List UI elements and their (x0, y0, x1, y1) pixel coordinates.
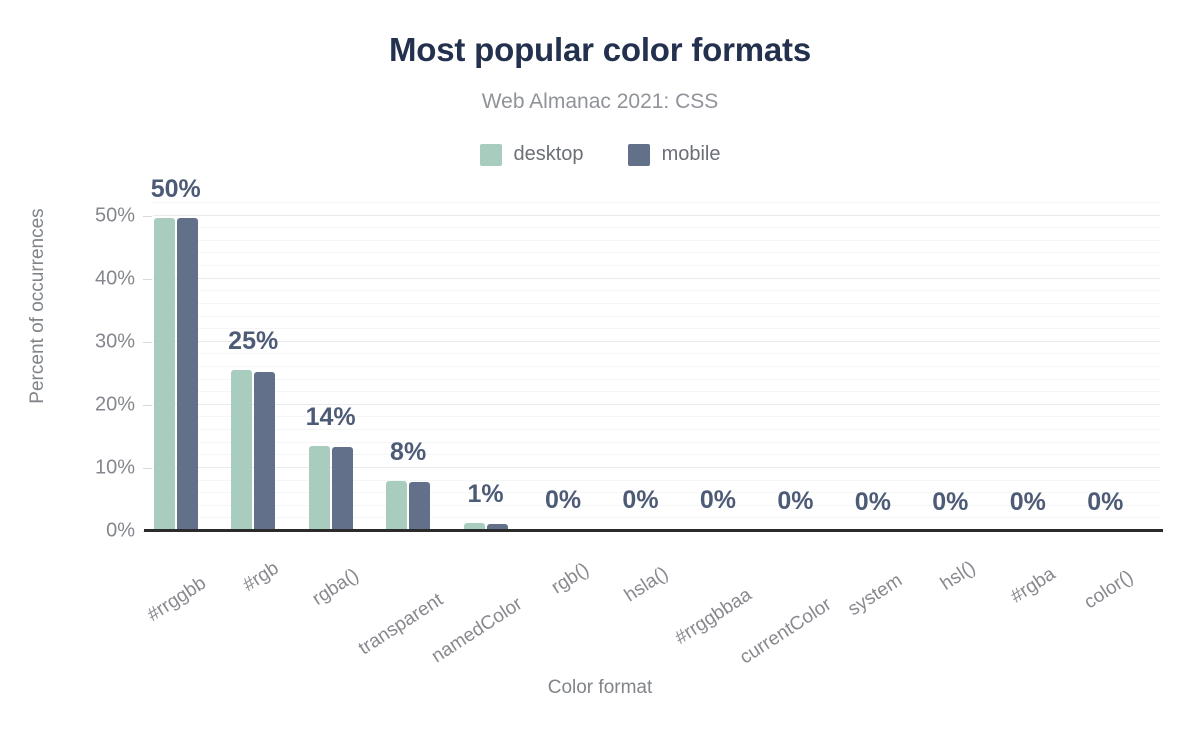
y-tick-mark (143, 216, 152, 217)
chart-title: Most popular color formats (0, 31, 1200, 69)
bar-value-label: 1% (467, 480, 503, 509)
legend-swatch-desktop (480, 144, 502, 166)
y-tick-label: 40% (45, 267, 135, 290)
legend-swatch-mobile (628, 144, 650, 166)
y-tick-mark (143, 279, 152, 280)
x-tick-label: color() (1081, 566, 1138, 614)
y-tick-label: 20% (45, 393, 135, 416)
legend-label-desktop: desktop (514, 143, 584, 166)
x-tick-label: hsl() (937, 557, 980, 596)
y-axis: 0%10%20%30%40%50% (40, 203, 135, 531)
bar-value-label: 0% (855, 488, 891, 517)
y-tick-mark (143, 405, 152, 406)
legend-item-mobile[interactable]: mobile (628, 143, 721, 166)
x-tick-label: rgba() (308, 565, 362, 611)
bar-mobile[interactable] (409, 482, 430, 531)
x-tick-label: rgb() (548, 559, 594, 599)
chart-legend: desktop mobile (0, 143, 1200, 166)
x-tick-label: #rrggbbaa (671, 584, 756, 650)
y-tick-label: 0% (45, 520, 135, 543)
x-tick-label: #rrggbb (143, 573, 210, 627)
bar-value-label: 0% (1087, 488, 1123, 517)
bar-desktop[interactable] (309, 446, 330, 531)
bar-value-label: 0% (932, 488, 968, 517)
bar-value-label: 0% (622, 486, 658, 515)
y-tick-mark (143, 342, 152, 343)
bar-value-label: 0% (1010, 488, 1046, 517)
x-axis-title: Color format (0, 677, 1200, 699)
bar-desktop[interactable] (231, 370, 252, 531)
bar-value-label: 0% (545, 486, 581, 515)
y-tick-label: 30% (45, 330, 135, 353)
y-tick-mark (143, 468, 152, 469)
x-tick-label: #rgb (239, 558, 283, 597)
bars-layer: 50%25%14%8%1%0%0%0%0%0%0%0%0% (153, 203, 1160, 531)
bar-value-label: 50% (151, 175, 201, 204)
legend-item-desktop[interactable]: desktop (480, 143, 584, 166)
bar-value-label: 25% (228, 327, 278, 356)
bar-mobile[interactable] (332, 447, 353, 531)
bar-mobile[interactable] (177, 218, 198, 531)
legend-label-mobile: mobile (662, 143, 721, 166)
bar-value-label: 0% (700, 486, 736, 515)
y-tick-label: 10% (45, 456, 135, 479)
bar-desktop[interactable] (386, 481, 407, 531)
bar-desktop[interactable] (154, 218, 175, 531)
y-tick-label: 50% (45, 204, 135, 227)
y-axis-title: Percent of occurrences (27, 196, 49, 416)
bar-value-label: 8% (390, 438, 426, 467)
x-axis-tick-labels: #rrggbb#rgbrgba()transparentnamedColorrg… (153, 537, 1160, 647)
x-tick-label: #rgba (1007, 563, 1060, 608)
x-tick-label: system (844, 570, 906, 621)
chart-subtitle: Web Almanac 2021: CSS (0, 90, 1200, 114)
x-axis-line (144, 529, 1163, 532)
bar-mobile[interactable] (254, 372, 275, 531)
chart-figure: Most popular color formats Web Almanac 2… (0, 0, 1200, 742)
bar-value-label: 0% (777, 487, 813, 516)
x-tick-label: hsla() (620, 563, 672, 607)
bar-value-label: 14% (306, 403, 356, 432)
